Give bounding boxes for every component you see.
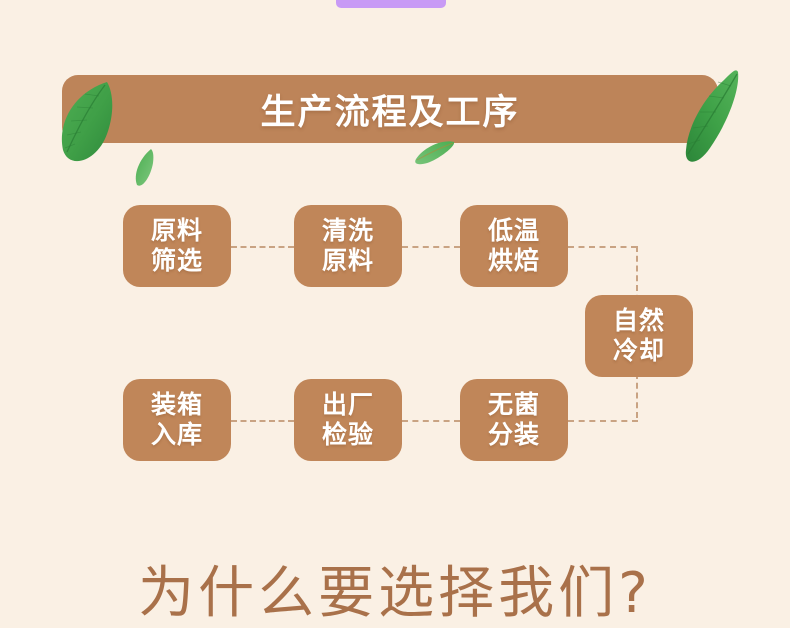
flow-step-boxing-warehousing[interactable]: 装箱 入库: [123, 379, 231, 461]
flow-step-line1: 低温: [488, 216, 540, 247]
flow-step-raw-material-screening[interactable]: 原料 筛选: [123, 205, 231, 287]
page-root: 生产流程及工序: [0, 0, 790, 628]
flow-step-line2: 入库: [151, 420, 203, 451]
leaf-small-center-icon: [412, 139, 458, 169]
flow-step-line2: 冷却: [613, 336, 665, 367]
purple-tab-decoration: [336, 0, 446, 8]
connector-2-3: [402, 246, 460, 248]
flow-step-sterile-packaging[interactable]: 无菌 分装: [460, 379, 568, 461]
flow-step-line2: 原料: [322, 246, 374, 277]
connector-5-6: [402, 420, 460, 422]
flow-step-line2: 分装: [488, 420, 540, 451]
flow-step-line1: 自然: [613, 306, 665, 337]
flow-step-factory-inspection[interactable]: 出厂 检验: [294, 379, 402, 461]
flow-step-wash-material[interactable]: 清洗 原料: [294, 205, 402, 287]
connector-6-7: [231, 420, 294, 422]
connector-3-4-horizontal: [568, 246, 637, 248]
flow-step-line2: 烘焙: [488, 246, 540, 277]
flow-step-line1: 出厂: [322, 390, 374, 421]
flow-step-line1: 清洗: [322, 216, 374, 247]
flow-step-low-temp-baking[interactable]: 低温 烘焙: [460, 205, 568, 287]
flow-step-line1: 无菌: [488, 390, 540, 421]
section-banner: 生产流程及工序: [62, 75, 718, 143]
flow-step-line1: 装箱: [151, 390, 203, 421]
flow-step-line1: 原料: [151, 216, 203, 247]
flow-step-natural-cooling[interactable]: 自然 冷却: [585, 295, 693, 377]
page-title: 生产流程及工序: [62, 75, 718, 143]
bottom-section-heading: 为什么要选择我们?: [0, 548, 790, 628]
flow-step-line2: 检验: [322, 420, 374, 451]
connector-4-5-horizontal: [568, 420, 638, 422]
flow-step-line2: 筛选: [151, 246, 203, 277]
leaf-small-left-icon: [133, 147, 157, 189]
connector-1-2: [231, 246, 294, 248]
